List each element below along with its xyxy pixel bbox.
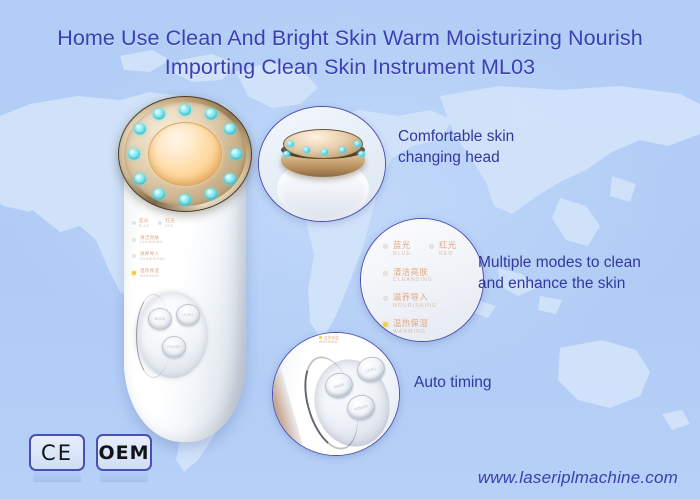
led-light [354, 141, 361, 147]
led-light [339, 147, 346, 153]
title-line-1: Home Use Clean And Bright Skin Warm Mois… [57, 26, 643, 50]
product-banner: Home Use Clean And Bright Skin Warm Mois… [0, 0, 700, 499]
legend-indicator-dot [132, 238, 136, 242]
device-head-center-disc [148, 122, 222, 186]
led-light [287, 141, 294, 147]
legend-indicator-dot [132, 221, 136, 225]
inset-mode-cleansing: 清洁亮肤 CLEANSING [383, 268, 473, 284]
ce-badge-label: CE [41, 441, 73, 465]
legend-row-nourishing: 滋养导入 NOURISHING [132, 251, 218, 261]
oem-badge: OEM [96, 434, 152, 471]
mode-label: 蓝光 BLUE [393, 241, 411, 257]
led-light [179, 194, 191, 205]
device-button-mode[interactable]: MODE [148, 308, 172, 330]
led-light [230, 149, 242, 160]
inset-mode-list: 蓝光 BLUE 红光 RED 清洁亮肤 CLEANSING [383, 241, 473, 342]
device-button-level[interactable]: LEVEL [176, 304, 200, 326]
led-light [224, 123, 236, 134]
led-light [303, 147, 310, 153]
website-url[interactable]: www.laseriplmachine.com [478, 468, 678, 488]
ce-badge: CE [29, 434, 85, 471]
legend-row-warming: 温热保湿 WARMING [132, 268, 218, 278]
inset-mode-row-lights: 蓝光 BLUE 红光 RED [383, 241, 473, 257]
feature-text-auto-timing: Auto timing [414, 372, 492, 393]
mode-indicator-dot [383, 296, 388, 301]
mode-label: 红光 RED [439, 241, 457, 257]
device-head [118, 96, 252, 212]
legend-label: 温热保湿 WARMING [140, 268, 159, 278]
feature-text-multiple-modes: Multiple modes to clean and enhance the … [478, 252, 641, 294]
inset-mode-panel: 蓝光 BLUE 红光 RED 清洁亮肤 CLEANSING [360, 218, 484, 342]
led-light [358, 151, 365, 157]
device-mode-legend: 蓝光 BLUE 红光 RED 清洁亮肤 CLEANSING [132, 218, 218, 285]
product-device-image: 蓝光 BLUE 红光 RED 清洁亮肤 CLEANSING [110, 96, 260, 446]
mode-indicator-dot [383, 244, 388, 249]
inset-control-pad: 温热保湿 WARMING MODE LEVEL POWER [272, 332, 400, 456]
led-light [153, 188, 165, 199]
inset-head-angled [258, 106, 386, 222]
led-light [224, 174, 236, 185]
legend-row-light-modes: 蓝光 BLUE 红光 RED [132, 218, 218, 228]
led-light [179, 104, 191, 115]
led-light [283, 151, 290, 157]
legend-row-cleansing: 清洁亮肤 CLEANSING [132, 235, 218, 245]
inset-pad-legend: 温热保湿 WARMING [319, 335, 339, 344]
legend-label: 蓝光 BLUE [139, 218, 149, 228]
legend-indicator-dot [132, 254, 136, 258]
inset-mode-blue: 蓝光 BLUE [383, 241, 411, 257]
device-button-power[interactable]: POWER [162, 336, 186, 358]
mode-indicator-dot [429, 244, 434, 249]
mode-label: 清洁亮肤 CLEANSING [393, 268, 433, 284]
led-light [153, 109, 165, 120]
mode-label: 滋养导入 NOURISHING [393, 293, 437, 309]
inset-mode-nourishing: 滋养导入 NOURISHING [383, 293, 473, 309]
oem-badge-label: OEM [98, 442, 149, 464]
mode-indicator-dot-active [383, 322, 388, 327]
device-control-pad[interactable]: MODE LEVEL POWER [138, 292, 208, 378]
feature-text-comfortable-head: Comfortable skin changing head [398, 126, 514, 168]
led-light [321, 149, 328, 155]
led-light [128, 149, 140, 160]
led-light [205, 188, 217, 199]
led-light [134, 174, 146, 185]
led-light [134, 123, 146, 134]
legend-label: 清洁亮肤 CLEANSING [140, 235, 163, 245]
led-light [205, 109, 217, 120]
legend-label: 红光 RED [165, 218, 175, 228]
legend-indicator-dot-active [132, 271, 136, 275]
certification-badges: CE OEM [29, 434, 152, 471]
title-line-2: Importing Clean Skin Instrument ML03 [0, 53, 700, 82]
mode-indicator-dot [383, 271, 388, 276]
legend-indicator-dot [158, 221, 162, 225]
inset-mode-red: 红光 RED [429, 241, 457, 257]
page-title: Home Use Clean And Bright Skin Warm Mois… [0, 24, 700, 82]
legend-label: 滋养导入 NOURISHING [140, 251, 165, 261]
